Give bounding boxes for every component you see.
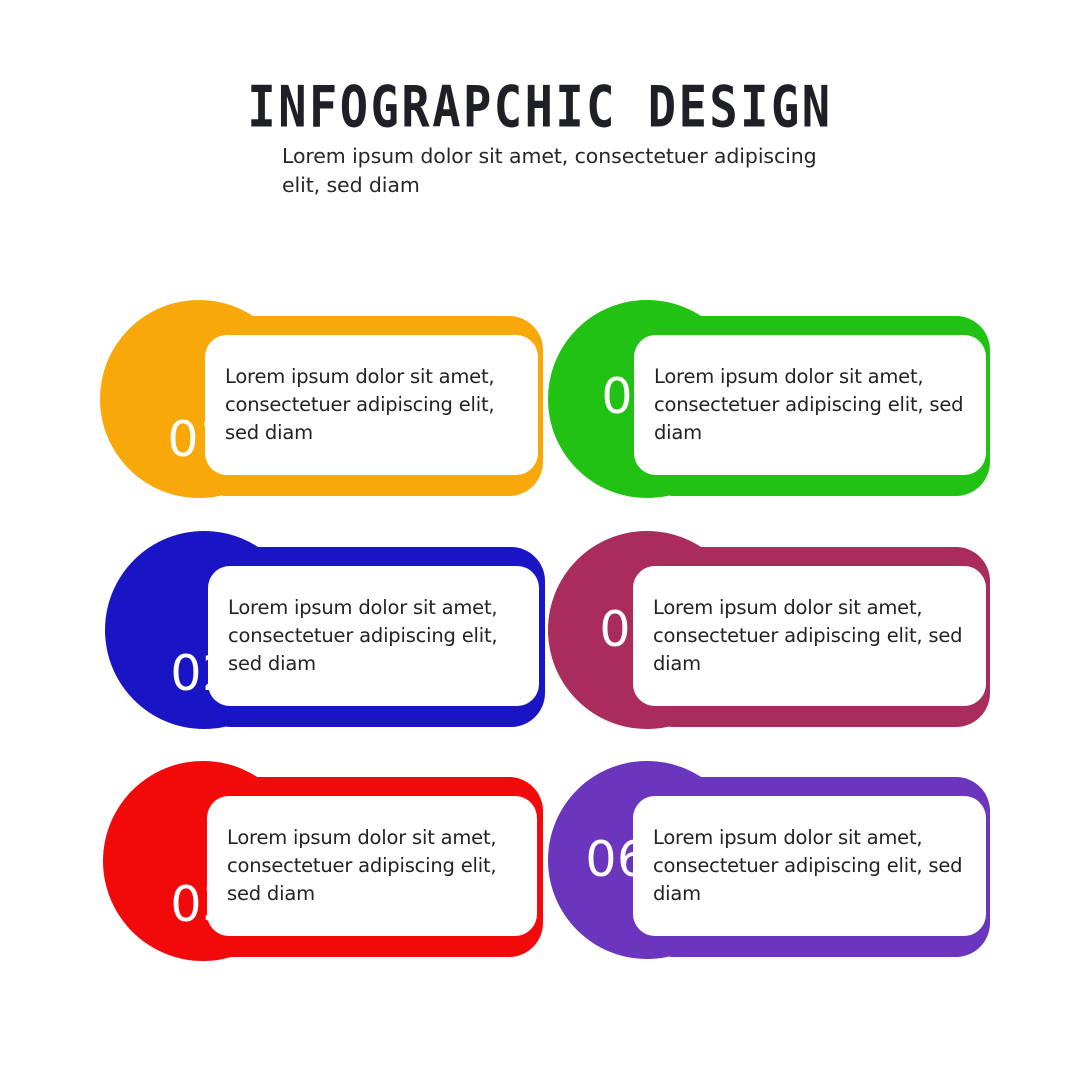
card-panel-06: Lorem ipsum dolor sit amet, consectetuer… [633, 796, 986, 936]
infographic-card-01[interactable]: 01 Lorem ipsum dolor sit amet, consectet… [100, 293, 540, 523]
card-text-02: Lorem ipsum dolor sit amet, consectetuer… [208, 594, 539, 678]
infographic-card-grid: 01 Lorem ipsum dolor sit amet, consectet… [0, 0, 1080, 1080]
infographic-card-05[interactable]: 05 Lorem ipsum dolor sit amet, consectet… [548, 523, 988, 753]
infographic-card-02[interactable]: 02 Lorem ipsum dolor sit amet, consectet… [105, 523, 545, 753]
card-panel-03: Lorem ipsum dolor sit amet, consectetuer… [207, 796, 537, 936]
card-text-03: Lorem ipsum dolor sit amet, consectetuer… [207, 824, 537, 908]
card-panel-05: Lorem ipsum dolor sit amet, consectetuer… [633, 566, 986, 706]
card-panel-01: Lorem ipsum dolor sit amet, consectetuer… [205, 335, 538, 475]
card-panel-02: Lorem ipsum dolor sit amet, consectetuer… [208, 566, 539, 706]
infographic-card-04[interactable]: 04 Lorem ipsum dolor sit amet, consectet… [548, 293, 988, 523]
card-text-04: Lorem ipsum dolor sit amet, consectetuer… [634, 363, 986, 447]
card-text-05: Lorem ipsum dolor sit amet, consectetuer… [633, 594, 986, 678]
card-text-06: Lorem ipsum dolor sit amet, consectetuer… [633, 824, 986, 908]
infographic-card-06[interactable]: 06 Lorem ipsum dolor sit amet, consectet… [548, 753, 988, 983]
infographic-card-03[interactable]: 03 Lorem ipsum dolor sit amet, consectet… [103, 753, 543, 983]
card-text-01: Lorem ipsum dolor sit amet, consectetuer… [205, 363, 538, 447]
card-panel-04: Lorem ipsum dolor sit amet, consectetuer… [634, 335, 986, 475]
